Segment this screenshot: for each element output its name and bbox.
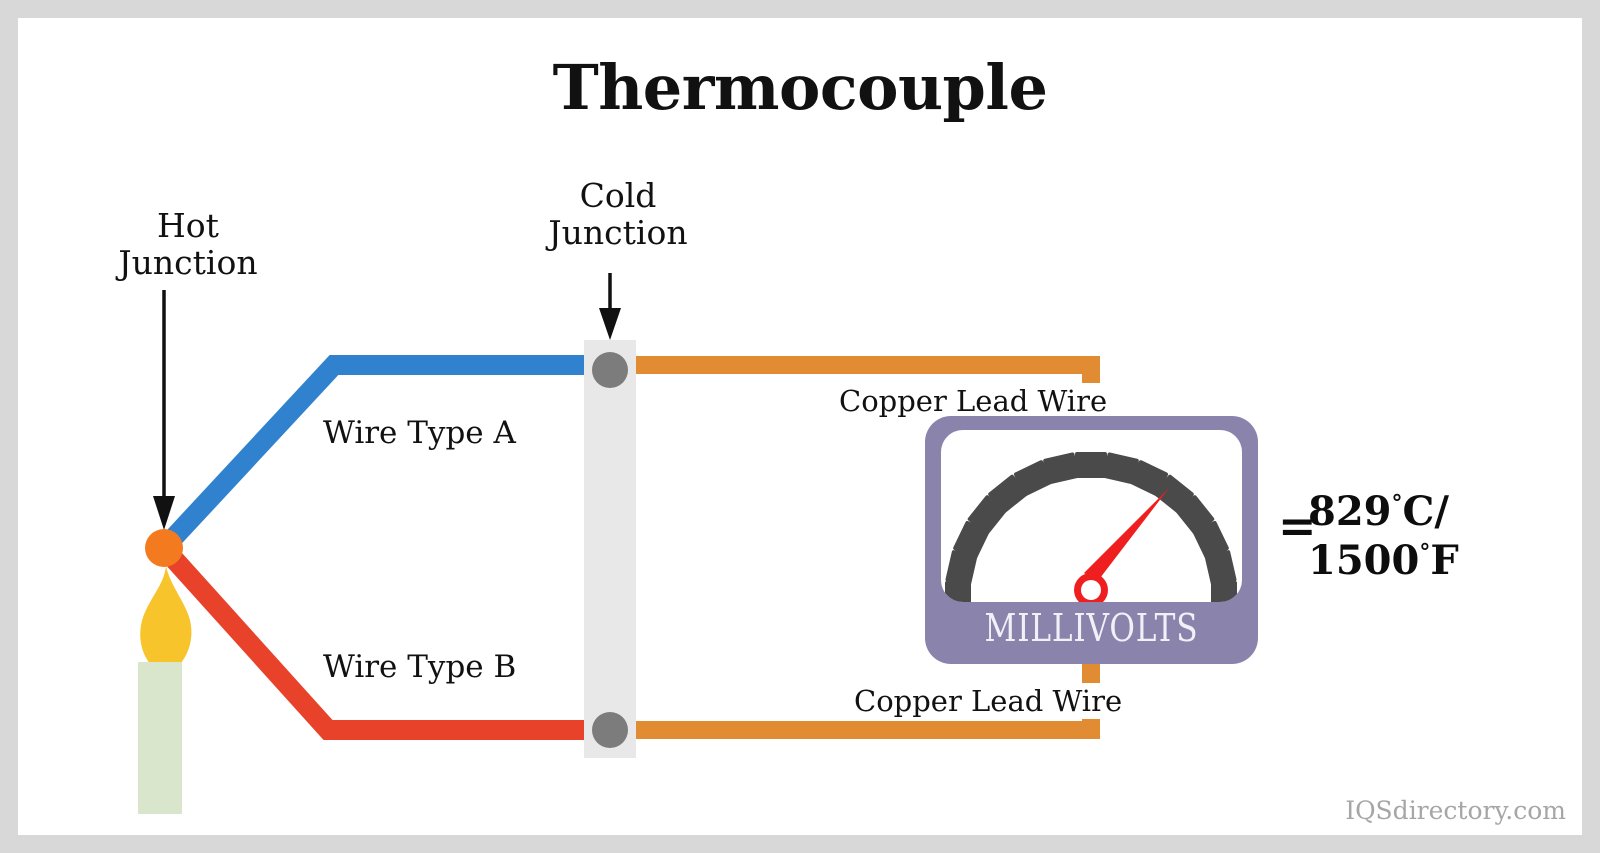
- millivolt-meter: MILLIVOLTS: [925, 416, 1258, 664]
- wiring-layer: [18, 18, 1582, 835]
- celsius-degree: °: [1392, 491, 1403, 517]
- hot-junction-dot: [145, 529, 183, 567]
- wire-type-b-label: Wire Type B: [323, 650, 516, 685]
- celsius-reading: 829°C/: [1308, 488, 1558, 537]
- meter-needle: [1074, 488, 1169, 602]
- copper-lead-wire-bottom-label: Copper Lead Wire: [848, 683, 1128, 719]
- meter-gauge-svg: [941, 430, 1242, 602]
- diagram-canvas: Thermocouple: [18, 18, 1582, 835]
- equals-sign: =: [1278, 498, 1317, 554]
- wire-type-b: [164, 548, 610, 730]
- fahrenheit-unit: F: [1430, 537, 1458, 584]
- fahrenheit-reading: 1500°F: [1308, 537, 1558, 586]
- cold-junction-label: Cold Junction: [488, 178, 748, 252]
- cold-junction-terminal-bottom: [592, 712, 628, 748]
- watermark: IQSdirectory.com: [1345, 796, 1566, 825]
- hot-junction-arrow: [153, 290, 175, 530]
- fahrenheit-degree: °: [1419, 539, 1430, 565]
- copper-lead-wire-top-label: Copper Lead Wire: [833, 383, 1113, 419]
- temperature-reading: = 829°C/ 1500°F: [1308, 488, 1558, 586]
- cold-junction-arrow: [599, 273, 621, 340]
- candle-body-icon: [138, 662, 182, 814]
- cold-junction-terminal-top: [592, 352, 628, 388]
- wire-type-a-label: Wire Type A: [323, 416, 516, 451]
- hot-junction-label: Hot Junction: [78, 208, 298, 282]
- celsius-unit: C/: [1403, 488, 1449, 535]
- fahrenheit-value: 1500: [1308, 537, 1419, 584]
- diagram-root: Thermocouple: [0, 0, 1600, 853]
- cold-junction-block: [584, 340, 636, 758]
- meter-unit-label: MILLIVOLTS: [955, 606, 1228, 650]
- celsius-value: 829: [1308, 488, 1392, 535]
- wire-type-a: [164, 365, 610, 548]
- meter-face: [941, 430, 1242, 602]
